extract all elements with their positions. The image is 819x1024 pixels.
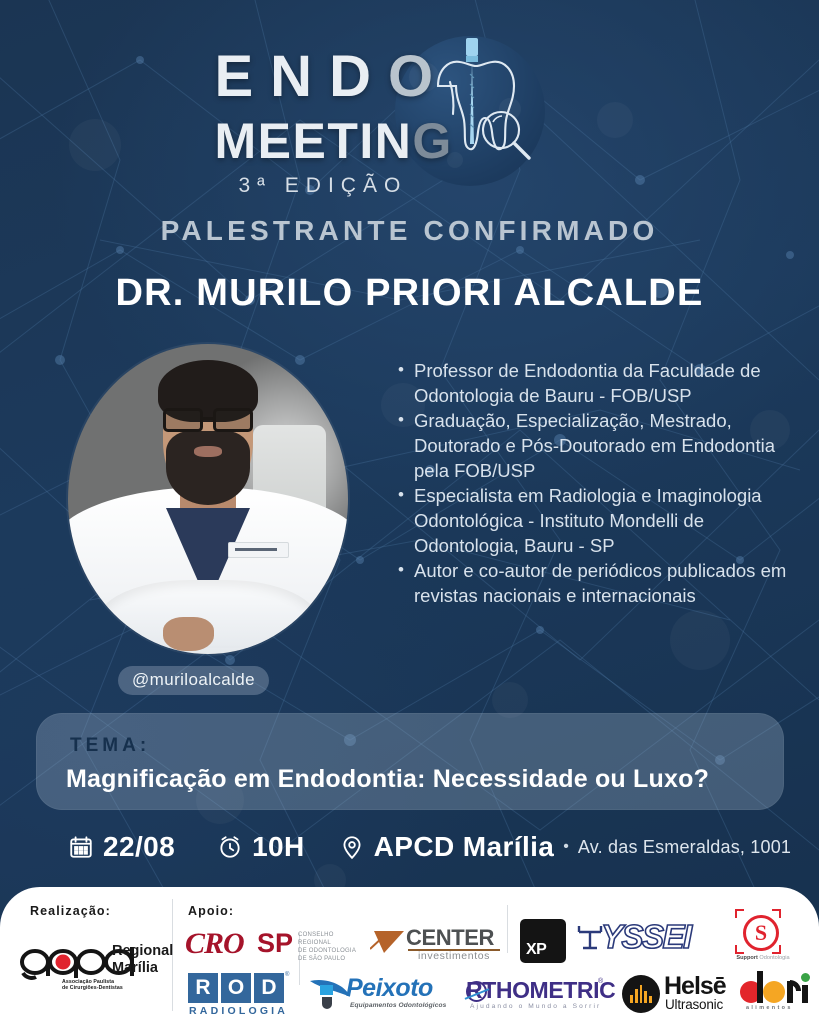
- credential-item: Graduação, Especialização, Mestrado, Dou…: [398, 408, 790, 483]
- sponsor-rod-radiologia[interactable]: R O D ® RADIOLOGIA: [188, 973, 292, 1019]
- theme-panel: TEMA: Magnificação em Endodontia: Necess…: [36, 713, 784, 810]
- sponsor-support-odontologia[interactable]: S Support Odontologia: [733, 913, 791, 971]
- event-time-group: 10H: [217, 831, 305, 863]
- cro-word: CRO: [185, 927, 244, 961]
- apcd-regional-text: Regional Marília: [112, 943, 173, 977]
- footer-divider: [507, 905, 508, 953]
- seven-arrow-icon: [370, 927, 406, 955]
- speaker-name: DR. MURILO PRIORI ALCALDE: [0, 272, 819, 315]
- sponsor-orthometric[interactable]: RTHOMETRIC ® Ajudando o Mundo a Sorrir: [452, 977, 612, 1015]
- poster-canvas: ENDO MEETING 3ª EDIÇÃO PALESTRANTE CONFI…: [0, 0, 819, 1024]
- event-address: Av. das Esmeraldas, 1001: [578, 837, 791, 858]
- center-sub: investimentos: [418, 950, 490, 962]
- helse-sub: Ultrasonic: [665, 997, 723, 1012]
- orthometric-word: RTHOMETRIC: [466, 977, 615, 1004]
- logo-endo-text: ENDO: [215, 48, 451, 106]
- sponsor-yssei[interactable]: YSSEI: [575, 920, 715, 960]
- photo-name-badge: [228, 542, 290, 558]
- sponsor-dori-alimentos[interactable]: alimentos: [740, 975, 816, 1017]
- rod-letter: O: [221, 973, 251, 1003]
- sponsor-peixoto[interactable]: Peixoto Equipamentos Odontológicos: [308, 975, 448, 1017]
- yssei-word: YSSEI: [601, 918, 691, 956]
- orthometric-registered-mark: ®: [598, 978, 603, 985]
- event-venue: APCD Marília: [374, 831, 555, 863]
- sponsor-cro-sp[interactable]: CRO SP CONSELHO REGIONAL DE ODONTOLOGIA …: [185, 927, 360, 963]
- credential-item: Especialista em Radiologia e Imaginologi…: [398, 483, 790, 558]
- info-separator: •: [563, 838, 569, 856]
- sponsor-xp[interactable]: XP: [520, 919, 566, 963]
- realizacao-label: Realização:: [30, 904, 111, 918]
- rod-letter: R: [188, 973, 218, 1003]
- apcd-tagline: Associação Paulista de Cirurgiões-Dentis…: [62, 979, 123, 992]
- credential-item: Autor e co-autor de periódicos publicado…: [398, 558, 790, 608]
- calendar-icon: [68, 834, 94, 860]
- logo-meeting-bright: MEETIN: [215, 113, 413, 169]
- support-sub: Support Odontologia: [729, 955, 797, 961]
- alarm-clock-icon: [217, 834, 243, 860]
- map-pin-icon: [339, 834, 365, 860]
- sponsor-helse-ultrasonic[interactable]: Helsē Ultrasonic: [622, 975, 746, 1017]
- center-word: CENTER: [406, 925, 494, 951]
- photo-mouth: [194, 446, 222, 457]
- orthometric-sub: Ajudando o Mundo a Sorrir: [470, 1003, 601, 1010]
- photo-hand: [163, 617, 213, 651]
- logo-meeting-dim: G: [412, 113, 452, 169]
- event-logo: ENDO MEETING 3ª EDIÇÃO: [0, 32, 819, 192]
- endodontic-file-icon: [466, 38, 478, 144]
- apoio-label: Apoio:: [188, 904, 234, 918]
- rod-registered-mark: ®: [285, 972, 289, 978]
- theme-label: TEMA:: [70, 735, 150, 757]
- peixoto-word: Peixoto: [346, 974, 433, 1003]
- xp-word: XP: [526, 941, 546, 959]
- theme-title: Magnificação em Endodontia: Necessidade …: [66, 765, 760, 794]
- event-info-bar: 22/08 10H APCD Marília • Av: [68, 824, 791, 870]
- credentials-list: Professor de Endodontia da Faculdade de …: [398, 358, 790, 608]
- event-date-group: 22/08: [68, 831, 175, 863]
- instagram-handle[interactable]: @muriloalcalde: [118, 666, 269, 695]
- kicker-label: PALESTRANTE CONFIRMADO: [0, 215, 819, 247]
- photo-glasses: [163, 408, 253, 433]
- event-location-group: APCD Marília • Av. das Esmeraldas, 1001: [339, 831, 792, 863]
- helse-wave-icon: [630, 985, 652, 1003]
- rod-letter: D: [254, 973, 284, 1003]
- credential-item: Professor de Endodontia da Faculdade de …: [398, 358, 790, 408]
- event-time: 10H: [252, 831, 305, 863]
- logo-edition-text: 3ª EDIÇÃO: [239, 174, 408, 198]
- dori-sub: alimentos: [746, 1005, 793, 1011]
- logo-endo-bright: END: [215, 44, 388, 109]
- support-letter: S: [755, 922, 767, 944]
- logo-meeting-text: MEETING: [215, 116, 453, 166]
- photo-beard: [166, 431, 250, 505]
- rod-sub: RADIOLOGIA: [189, 1005, 288, 1017]
- cro-sp-abbr: SP: [257, 928, 293, 959]
- speaker-photo: [68, 344, 348, 654]
- peixoto-sub: Equipamentos Odontológicos: [350, 1002, 446, 1009]
- support-circle-icon: S: [743, 915, 779, 951]
- sponsors-footer: Realização: Apoio: Associação Paulista d: [0, 887, 819, 1024]
- logo-endo-dim: O: [388, 44, 450, 109]
- sponsor-center-investimentos[interactable]: CENTER investimentos: [370, 925, 500, 965]
- event-date: 22/08: [103, 831, 175, 863]
- cro-description: CONSELHO REGIONAL DE ODONTOLOGIA DE SÃO …: [298, 931, 360, 963]
